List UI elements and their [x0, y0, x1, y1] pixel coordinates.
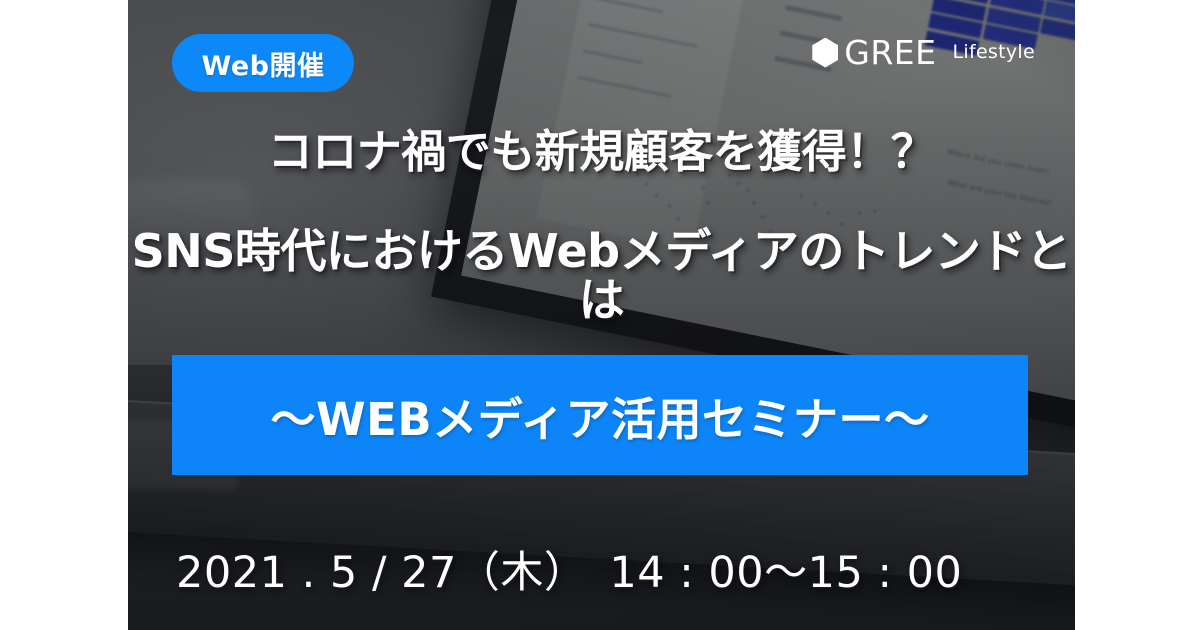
schedule-text: 2021 . 5 / 27（木） 14 : 00〜15 : 00 — [176, 538, 962, 600]
gree-lifestyle-logo: GREE Lifestyle — [812, 36, 1035, 69]
subtitle-ribbon: 〜WEBメディア活用セミナー〜 — [172, 355, 1028, 475]
hexagon-icon — [812, 38, 838, 68]
logo-subbrand: Lifestyle — [952, 43, 1035, 62]
poster-content: Web開催 GREE Lifestyle コロナ禍でも新規顧客を獲得！？ SNS… — [128, 0, 1075, 630]
poster-frame: 1.1.1.1.1 1.1.1 1.1.1.1.1.1.1.1 Week 0 W… — [0, 0, 1200, 630]
seminar-poster-artwork: 1.1.1.1.1 1.1.1 1.1.1.1.1.1.1.1 Week 0 W… — [128, 0, 1075, 630]
subtitle-ribbon-text: 〜WEBメディア活用セミナー〜 — [270, 383, 929, 448]
logo-wordmark: GREE — [844, 36, 936, 69]
headline-line-2: SNS時代におけるWebメディアのトレンドとは — [128, 227, 1075, 324]
page-title: コロナ禍でも新規顧客を獲得！？ SNS時代におけるWebメディアのトレンドとは — [128, 128, 1075, 324]
headline-line-1: コロナ禍でも新規顧客を獲得！？ — [128, 128, 1075, 175]
web-event-badge: Web開催 — [172, 34, 354, 92]
